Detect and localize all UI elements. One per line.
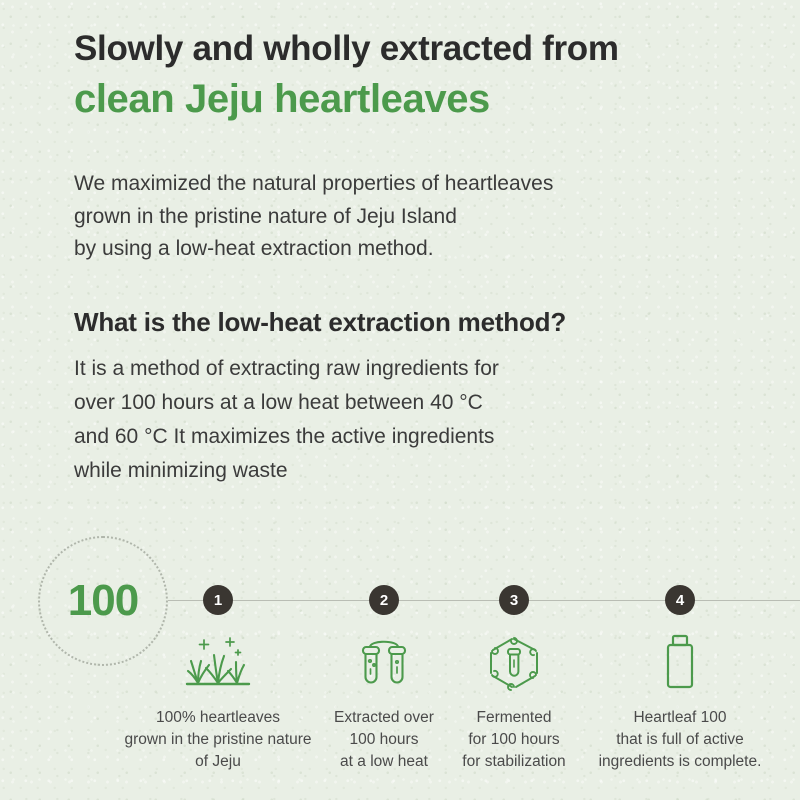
step-caption-3-line-3: for stabilization xyxy=(462,751,565,773)
process-step-4: 4 Heartleaf 100 that is full of active i… xyxy=(580,520,780,773)
step-caption-4-line-2: that is full of active xyxy=(599,729,762,751)
qa-section: What is the low-heat extraction method? … xyxy=(74,307,724,488)
qa-body-line-3: and 60 °C It maximizes the active ingred… xyxy=(74,420,724,454)
hero-heading-line-1: Slowly and wholly extracted from xyxy=(74,28,734,71)
qa-title: What is the low-heat extraction method? xyxy=(74,307,724,338)
step-number-badge-4: 4 xyxy=(665,585,695,615)
intro-line-2: grown in the pristine nature of Jeju Isl… xyxy=(74,201,714,234)
step-caption-3: Fermented for 100 hours for stabilizatio… xyxy=(462,707,565,773)
hero-heading-line-2: clean Jeju heartleaves xyxy=(74,75,734,124)
step-number-badge-1: 1 xyxy=(203,585,233,615)
step-number-badge-3: 3 xyxy=(499,585,529,615)
qa-body-line-4: while minimizing waste xyxy=(74,454,724,488)
step-number-badge-2: 2 xyxy=(369,585,399,615)
intro-line-1: We maximized the natural properties of h… xyxy=(74,168,714,201)
qa-body-line-2: over 100 hours at a low heat between 40 … xyxy=(74,386,724,420)
hero-heading: Slowly and wholly extracted from clean J… xyxy=(74,28,734,123)
qa-body: It is a method of extracting raw ingredi… xyxy=(74,352,724,488)
intro-paragraph: We maximized the natural properties of h… xyxy=(74,168,714,266)
bottle-icon xyxy=(660,632,700,694)
process-steps: 1 xyxy=(120,520,800,800)
process-timeline: 100 1 xyxy=(0,520,800,800)
step-caption-4: Heartleaf 100 that is full of active ing… xyxy=(599,707,762,773)
step-caption-3-line-1: Fermented xyxy=(462,707,565,729)
step-caption-4-line-1: Heartleaf 100 xyxy=(599,707,762,729)
grass-sparkle-icon xyxy=(182,632,254,694)
step-caption-4-line-3: ingredients is complete. xyxy=(599,751,762,773)
test-tubes-icon xyxy=(355,632,413,694)
step-caption-3-line-2: for 100 hours xyxy=(462,729,565,751)
promo-page: Slowly and wholly extracted from clean J… xyxy=(0,0,800,800)
intro-line-3: by using a low-heat extraction method. xyxy=(74,233,714,266)
molecule-hexagon-icon xyxy=(483,632,545,694)
qa-body-line-1: It is a method of extracting raw ingredi… xyxy=(74,352,724,386)
